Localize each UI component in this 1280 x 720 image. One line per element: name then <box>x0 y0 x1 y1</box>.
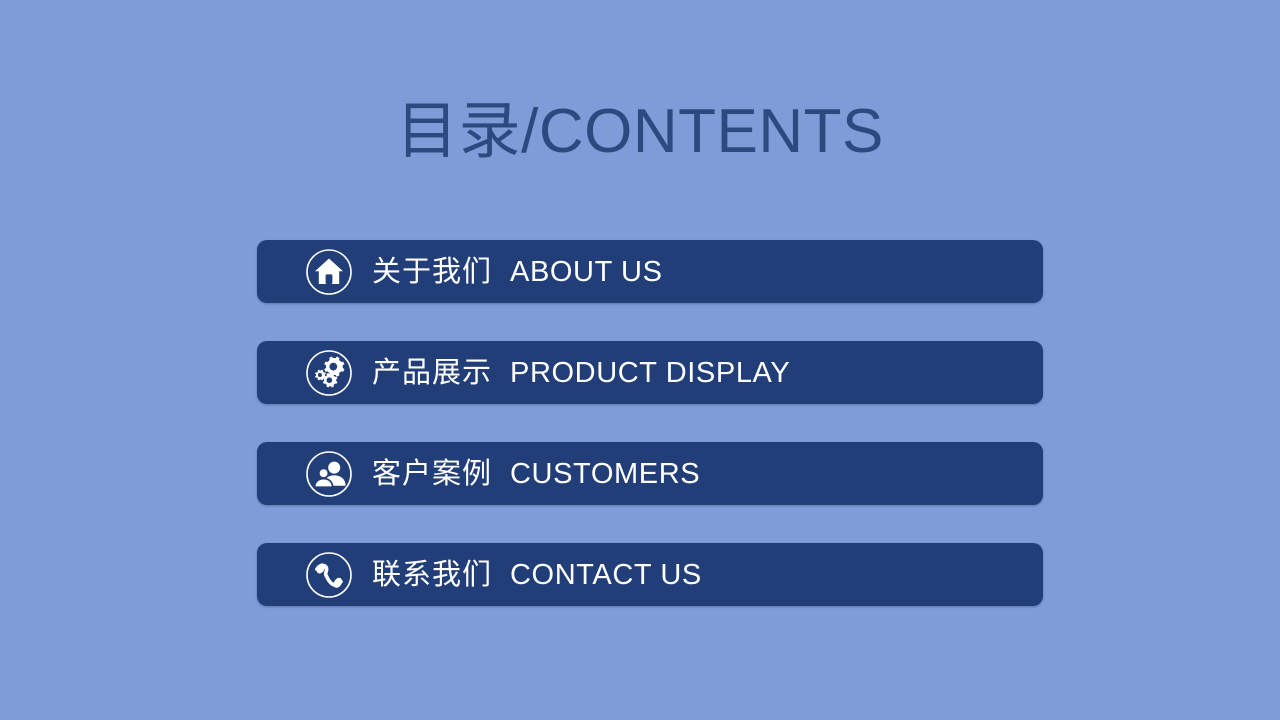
home-icon <box>305 248 353 296</box>
people-icon <box>305 450 353 498</box>
contents-item-product-display[interactable]: 产品展示PRODUCT DISPLAY <box>257 341 1043 404</box>
contents-item-about-us[interactable]: 关于我们ABOUT US <box>257 240 1043 303</box>
contents-item-label-en: CUSTOMERS <box>510 458 700 490</box>
phone-icon <box>305 551 353 599</box>
contents-item-contact-us[interactable]: 联系我们CONTACT US <box>257 543 1043 606</box>
contents-item-label: 客户案例CUSTOMERS <box>372 457 700 491</box>
contents-item-label-en: PRODUCT DISPLAY <box>510 357 790 389</box>
contents-item-label: 产品展示PRODUCT DISPLAY <box>372 356 790 390</box>
contents-item-label-cn: 客户案例 <box>372 458 492 490</box>
contents-item-label: 联系我们CONTACT US <box>372 558 702 592</box>
presentation-slide: 目录/CONTENTS 关于我们ABOUT US <box>0 0 1280 720</box>
page-title: 目录/CONTENTS <box>0 96 1280 168</box>
contents-item-label: 关于我们ABOUT US <box>372 255 663 289</box>
contents-item-label-en: ABOUT US <box>510 256 663 288</box>
contents-item-label-cn: 关于我们 <box>372 256 492 288</box>
contents-item-label-en: CONTACT US <box>510 559 702 591</box>
contents-item-label-cn: 产品展示 <box>372 357 492 389</box>
contents-item-customers[interactable]: 客户案例CUSTOMERS <box>257 442 1043 505</box>
contents-item-label-cn: 联系我们 <box>372 559 492 591</box>
contents-list: 关于我们ABOUT US <box>257 240 1043 606</box>
gears-icon <box>305 349 353 397</box>
